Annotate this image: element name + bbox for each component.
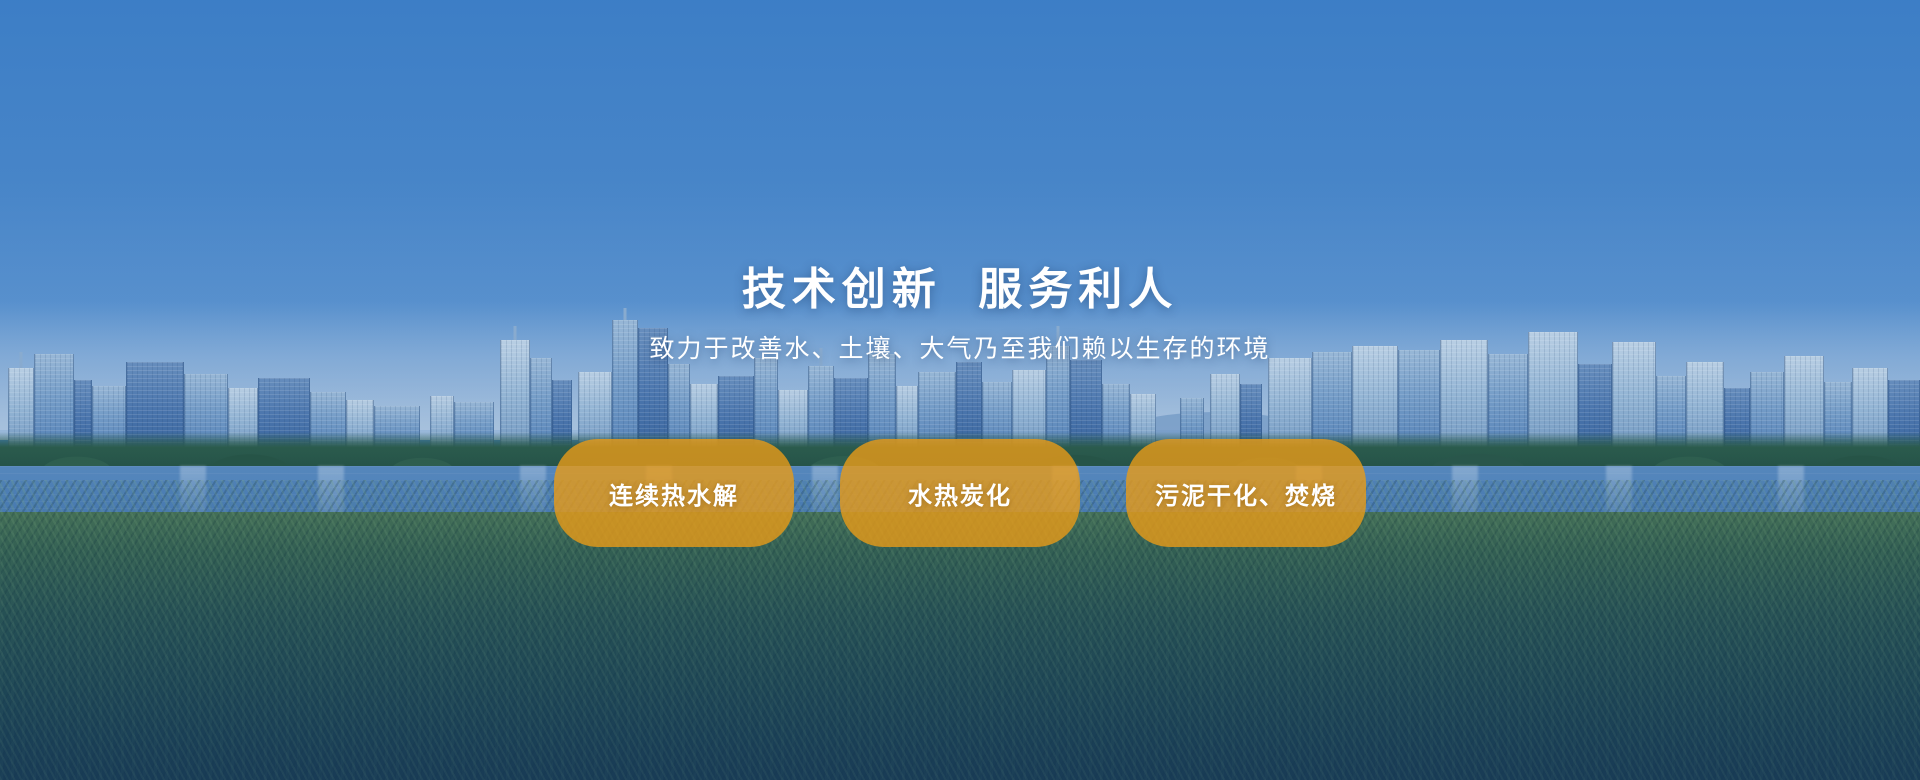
service-button-hydrothermal-carbonization[interactable]: 水热炭化	[840, 439, 1080, 547]
service-button-sludge-drying-incineration[interactable]: 污泥干化、焚烧	[1126, 439, 1366, 547]
hero-banner: 技术创新 服务利人 致力于改善水、土壤、大气乃至我们赖以生存的环境 连续热水解 …	[0, 0, 1920, 780]
hero-content: 技术创新 服务利人 致力于改善水、土壤、大气乃至我们赖以生存的环境 连续热水解 …	[0, 0, 1920, 780]
page-subtitle: 致力于改善水、土壤、大气乃至我们赖以生存的环境	[649, 329, 1270, 365]
service-button-continuous-thermal-hydrolysis[interactable]: 连续热水解	[554, 439, 794, 547]
service-button-row: 连续热水解 水热炭化 污泥干化、焚烧	[554, 439, 1366, 547]
page-title: 技术创新 服务利人	[742, 264, 1178, 315]
